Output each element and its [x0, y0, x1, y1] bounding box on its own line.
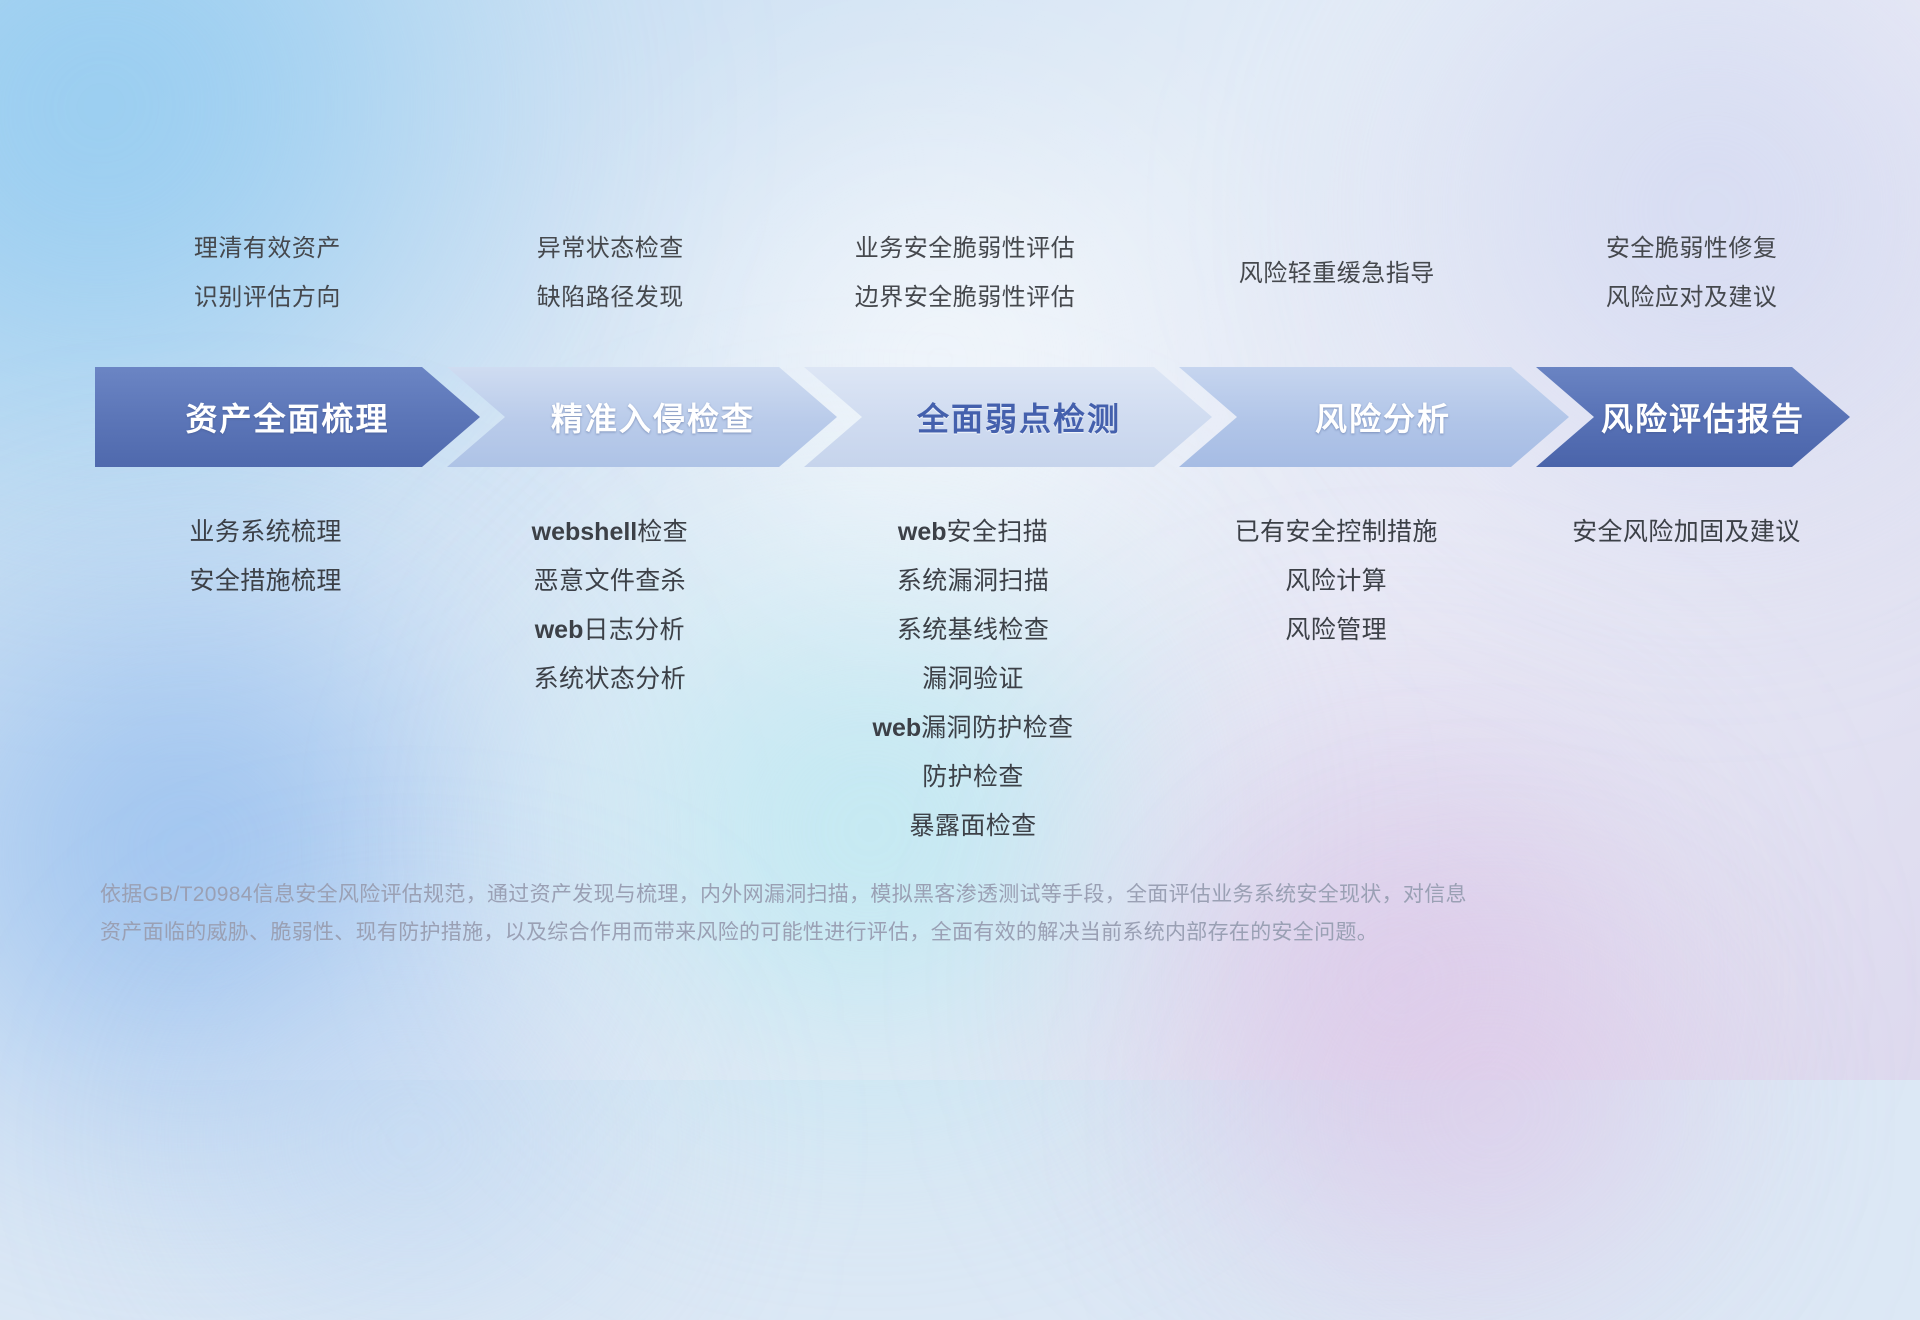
top-captions-stage-4: 风险轻重缓急指导 [1172, 224, 1501, 298]
detail-item: web日志分析 [535, 606, 685, 655]
chevron-stage-1-label: 资产全面梳理 [185, 394, 389, 440]
top-caption-item: 风险应对及建议 [1606, 273, 1778, 322]
detail-list-stage-2: webshell检查 恶意文件查杀 web日志分析 系统状态分析 [445, 508, 774, 704]
top-caption-item: 风险轻重缓急指导 [1239, 249, 1435, 298]
detail-list-stage-4: 已有安全控制措施 风险计算 风险管理 [1172, 508, 1501, 655]
top-caption-item: 缺陷路径发现 [537, 273, 684, 322]
chevron-stage-3[interactable]: 全面弱点检测 [804, 367, 1212, 467]
footer-description: 依据GB/T20984信息安全风险评估规范，通过资产发现与梳理，内外网漏洞扫描，… [100, 876, 1620, 952]
chevron-stage-2-label: 精准入侵检查 [551, 394, 755, 440]
detail-item-cjk: 漏洞防护检查 [921, 714, 1073, 742]
top-captions-stage-1: 理清有效资产 识别评估方向 [108, 224, 427, 322]
chevron-stage-1[interactable]: 资产全面梳理 [95, 367, 480, 467]
detail-item: 风险管理 [1285, 606, 1387, 655]
detail-item-cjk: 安全扫描 [947, 518, 1049, 546]
top-caption-row: 理清有效资产 识别评估方向 异常状态检查 缺陷路径发现 业务安全脆弱性评估 边界… [96, 224, 1856, 324]
detail-item-latin: webshell [532, 518, 638, 546]
detail-item-cjk: 日志分析 [583, 616, 685, 644]
top-captions-stage-2: 异常状态检查 缺陷路径发现 [451, 224, 770, 322]
detail-item-latin: web [873, 714, 922, 742]
detail-item: 风险计算 [1285, 557, 1387, 606]
top-caption-item: 识别评估方向 [194, 273, 341, 322]
detail-item: 恶意文件查杀 [534, 557, 686, 606]
detail-item: 已有安全控制措施 [1235, 508, 1438, 557]
footer-line-2: 资产面临的威胁、脆弱性、现有防护措施，以及综合作用而带来风险的可能性进行评估，全… [100, 914, 1620, 952]
top-captions-stage-5: 安全脆弱性修复 风险应对及建议 [1527, 224, 1856, 322]
top-captions-stage-3: 业务安全脆弱性评估 边界安全脆弱性评估 [786, 224, 1145, 322]
top-caption-item: 异常状态检查 [537, 224, 684, 273]
detail-item: webshell检查 [532, 508, 688, 557]
diagram-stage: 理清有效资产 识别评估方向 异常状态检查 缺陷路径发现 业务安全脆弱性评估 边界… [0, 0, 1920, 1080]
detail-item-latin: web [535, 616, 584, 644]
top-caption-item: 理清有效资产 [194, 224, 341, 273]
top-caption-item: 边界安全脆弱性评估 [855, 273, 1076, 322]
chevron-stage-4[interactable]: 风险分析 [1179, 367, 1569, 467]
top-caption-item: 安全脆弱性修复 [1606, 224, 1778, 273]
detail-list-stage-1: 业务系统梳理 安全措施梳理 [106, 508, 425, 606]
detail-item: 系统状态分析 [534, 655, 686, 704]
detail-item: 防护检查 [922, 753, 1024, 802]
chevron-stage-5-label: 风险评估报告 [1601, 394, 1805, 440]
detail-item: 系统基线检查 [897, 606, 1049, 655]
chevron-stage-4-label: 风险分析 [1315, 394, 1451, 440]
detail-list-stage-3: web安全扫描 系统漏洞扫描 系统基线检查 漏洞验证 web漏洞防护检查 防护检… [788, 508, 1157, 851]
detail-item-cjk: 检查 [637, 518, 688, 546]
chevron-stage-2[interactable]: 精准入侵检查 [447, 367, 837, 467]
detail-item: 安全措施梳理 [189, 557, 341, 606]
footer-line-1: 依据GB/T20984信息安全风险评估规范，通过资产发现与梳理，内外网漏洞扫描，… [100, 876, 1620, 914]
detail-item: web漏洞防护检查 [873, 704, 1074, 753]
detail-list-stage-5: 安全风险加固及建议 [1517, 508, 1856, 557]
detail-item: 漏洞验证 [922, 655, 1024, 704]
chevron-stage-5[interactable]: 风险评估报告 [1536, 367, 1850, 467]
top-caption-item: 业务安全脆弱性评估 [855, 224, 1076, 273]
bottom-detail-row: 业务系统梳理 安全措施梳理 webshell检查 恶意文件查杀 web日志分析 … [96, 508, 1856, 851]
detail-item-latin: web [898, 518, 947, 546]
detail-item: 业务系统梳理 [189, 508, 341, 557]
detail-item: web安全扫描 [898, 508, 1048, 557]
detail-item: 安全风险加固及建议 [1572, 508, 1801, 557]
chevron-stage-3-label: 全面弱点检测 [917, 394, 1121, 440]
detail-item: 暴露面检查 [910, 802, 1037, 851]
detail-item: 系统漏洞扫描 [897, 557, 1049, 606]
process-chevron-banner: 资产全面梳理 精准入侵检查 全面弱点检测 风险分析 风险评估报告 [95, 367, 1850, 467]
